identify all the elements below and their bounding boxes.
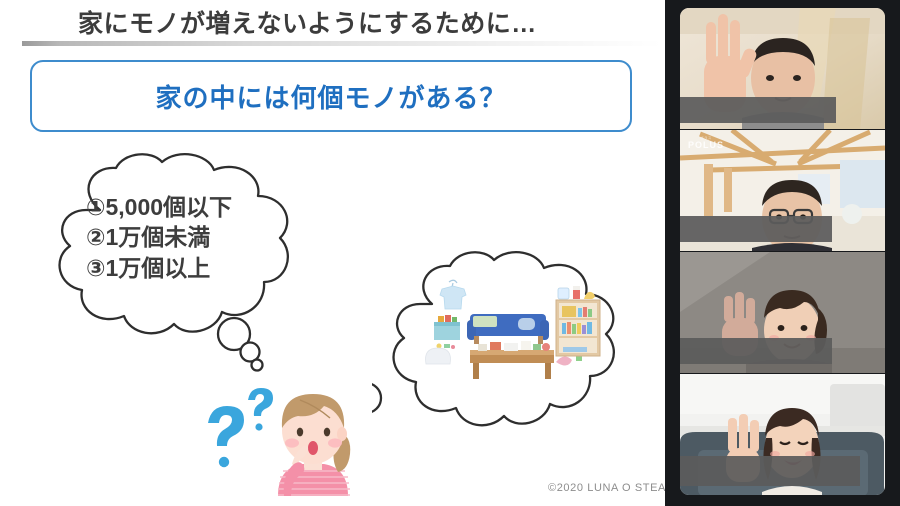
polus-watermark: ポラス POLUS xyxy=(688,137,724,150)
polus-watermark-text: POLUS xyxy=(688,140,724,150)
presentation-screen-share: 家にモノが増えないようにするために… 家の中には何個モノがある？ ①5,000個… xyxy=(0,0,900,506)
participant-1-name-label xyxy=(680,97,836,123)
answer-option-2: ②1万個未満 xyxy=(86,222,232,252)
slide-title: 家にモノが増えないようにするために… xyxy=(78,4,638,40)
hanging-shirt-icon xyxy=(440,280,466,309)
video-participant-panel: ポラス POLUS xyxy=(665,0,900,506)
copyright-notice: ©2020 LUNA O STEA xyxy=(548,482,665,494)
eye-left xyxy=(297,428,303,437)
participant-4-name-label xyxy=(680,456,860,486)
eye-right xyxy=(324,428,330,437)
polus-watermark-sub: ポラス xyxy=(688,137,724,141)
mouth xyxy=(308,441,318,455)
coffee-table-icon xyxy=(470,341,554,379)
answer-options: ①5,000個以下 ②1万個未満 ③1万個以上 xyxy=(86,192,232,283)
video-tile-participant-1[interactable] xyxy=(680,8,885,129)
answer-option-1: ①5,000個以下 xyxy=(86,192,232,222)
beanbag-icon xyxy=(426,348,451,364)
sofa-icon xyxy=(467,314,549,344)
bookshelf-icon xyxy=(556,286,600,356)
video-tile-participant-4[interactable] xyxy=(680,374,885,495)
question-mark-icon-large xyxy=(208,406,244,467)
video-tile-participant-2[interactable]: ポラス POLUS xyxy=(680,130,885,251)
slide-content: 家にモノが増えないようにするために… 家の中には何個モノがある？ ①5,000個… xyxy=(0,0,665,506)
participant-3-name-label xyxy=(680,338,832,364)
question-box: 家の中には何個モノがある？ xyxy=(30,60,632,132)
question-box-text: 家の中には何個モノがある？ xyxy=(155,78,506,115)
thinking-woman-illustration xyxy=(196,378,361,506)
video-tile-participant-3[interactable] xyxy=(680,252,885,373)
answer-option-3: ③1万個以上 xyxy=(86,253,232,283)
participant-2-name-label xyxy=(680,216,832,242)
scattered-toy-icon xyxy=(556,356,572,365)
question-mark-icon xyxy=(248,388,273,431)
toy-box-icon xyxy=(434,315,460,349)
video-tile-strip: ポラス POLUS xyxy=(680,8,885,495)
title-divider xyxy=(22,41,662,46)
cluttered-living-room-illustration xyxy=(418,278,613,388)
